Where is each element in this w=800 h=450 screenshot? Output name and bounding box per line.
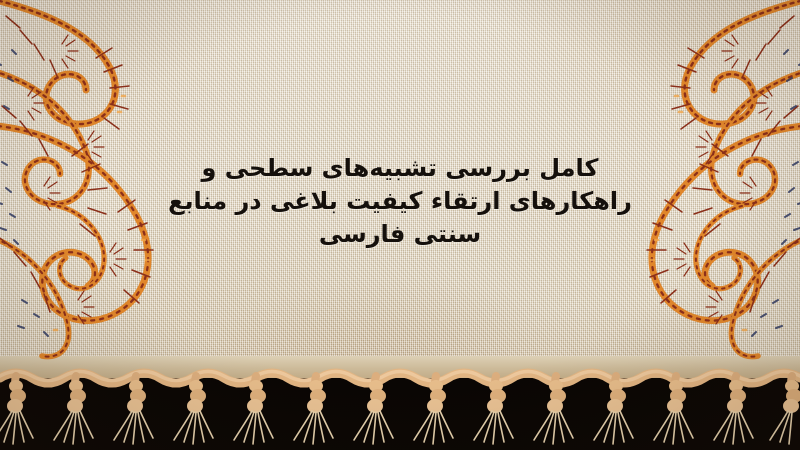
title-line-2: راهکارهای ارتقاء کیفیت بلاغی در منابع	[150, 185, 650, 218]
tassel-fringe	[0, 366, 800, 450]
fabric-hem	[0, 356, 800, 378]
title-line-3: سنتی فارسی	[150, 218, 650, 251]
hem-shadow-line	[0, 366, 800, 370]
title-line-1: کامل بررسی تشبیه‌های سطحی و	[150, 152, 650, 185]
slide-canvas: کامل بررسی تشبیه‌های سطحی و راهکارهای ار…	[0, 0, 800, 450]
tassel-group	[0, 376, 800, 444]
slide-title: کامل بررسی تشبیه‌های سطحی و راهکارهای ار…	[150, 152, 650, 251]
